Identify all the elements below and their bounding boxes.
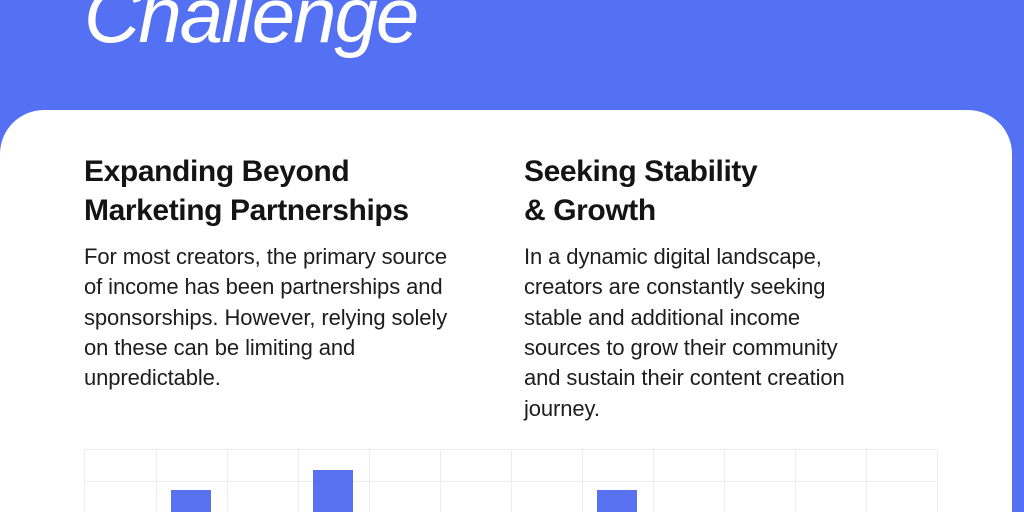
chart-bars [84, 449, 936, 512]
column-body-1: For most creators, the primary source of… [84, 242, 482, 394]
chart-bar [597, 490, 637, 512]
content-card: Expanding Beyond Marketing Partnerships … [0, 110, 1012, 512]
column-heading-2: Seeking Stability & Growth [524, 152, 924, 230]
bar-chart [84, 449, 936, 512]
two-column-layout: Expanding Beyond Marketing Partnerships … [84, 152, 964, 424]
chart-vgridline [937, 450, 938, 512]
column-expanding-beyond: Expanding Beyond Marketing Partnerships … [84, 152, 524, 424]
column-heading-1: Expanding Beyond Marketing Partnerships [84, 152, 482, 230]
chart-bar [171, 490, 211, 512]
column-body-2: In a dynamic digital landscape, creators… [524, 242, 924, 424]
chart-bar [313, 470, 353, 512]
page-title: Challenge [84, 0, 417, 54]
column-seeking-stability: Seeking Stability & Growth In a dynamic … [524, 152, 964, 424]
page-root: Challenge Expanding Beyond Marketing Par… [0, 0, 1024, 512]
